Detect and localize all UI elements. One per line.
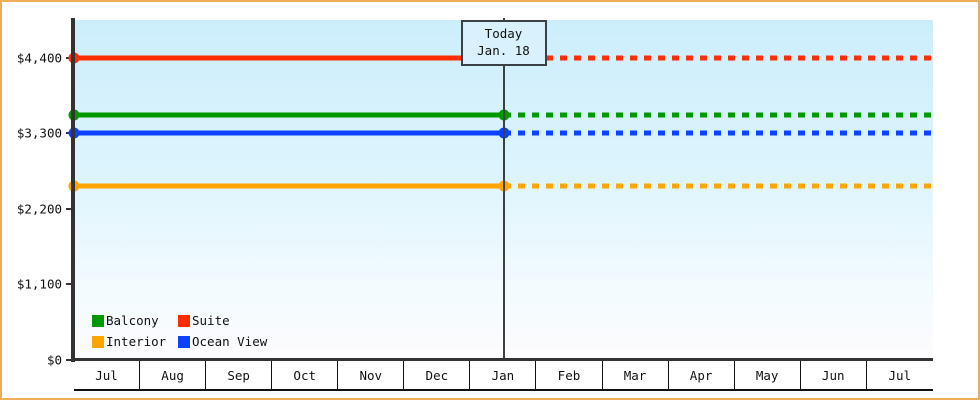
legend-label-balcony: Balcony bbox=[106, 313, 159, 328]
x-axis-month-row: JulAugSepOctNovDecJanFebMarAprMayJunJul bbox=[74, 361, 933, 391]
today-label: Today bbox=[473, 25, 535, 42]
x-axis-month-jan-6[interactable]: Jan bbox=[470, 361, 536, 389]
legend-swatch-suite bbox=[178, 315, 190, 327]
x-axis-month-jul-0[interactable]: Jul bbox=[74, 361, 140, 389]
legend-item-ocean-view[interactable]: Ocean View bbox=[178, 334, 267, 349]
legend-item-suite[interactable]: Suite bbox=[178, 313, 230, 328]
today-callout-box: Today Jan. 18 bbox=[461, 20, 547, 66]
legend-swatch-balcony bbox=[92, 315, 104, 327]
x-axis-month-jul-12[interactable]: Jul bbox=[867, 361, 933, 389]
legend-label-suite: Suite bbox=[192, 313, 230, 328]
x-axis-month-mar-8[interactable]: Mar bbox=[603, 361, 669, 389]
series-line-balcony bbox=[74, 112, 504, 117]
y-axis-line bbox=[71, 18, 75, 362]
series-forecast-interior bbox=[504, 183, 934, 188]
series-line-interior bbox=[74, 183, 504, 188]
series-forecast-suite bbox=[504, 55, 934, 60]
legend-row: Balcony Suite bbox=[92, 310, 267, 331]
today-date: Jan. 18 bbox=[473, 42, 535, 59]
x-axis-month-sep-2[interactable]: Sep bbox=[206, 361, 272, 389]
x-axis-month-feb-7[interactable]: Feb bbox=[536, 361, 602, 389]
series-forecast-ocean-view bbox=[504, 130, 934, 135]
y-axis-tick-label: $2,200 bbox=[17, 201, 62, 216]
y-axis-tick-label: $3,300 bbox=[17, 126, 62, 141]
legend-item-interior[interactable]: Interior bbox=[92, 334, 178, 349]
legend-row: Interior Ocean View bbox=[92, 331, 267, 352]
x-axis-month-may-10[interactable]: May bbox=[735, 361, 801, 389]
series-line-ocean-view bbox=[74, 130, 504, 135]
price-history-chart: $0$1,100$2,200$3,300$4,400 Today Jan. 18… bbox=[0, 0, 980, 400]
series-forecast-balcony bbox=[504, 112, 934, 117]
x-axis-month-aug-1[interactable]: Aug bbox=[140, 361, 206, 389]
y-axis-tick-label: $1,100 bbox=[17, 277, 62, 292]
legend-item-balcony[interactable]: Balcony bbox=[92, 313, 178, 328]
x-axis-month-jun-11[interactable]: Jun bbox=[801, 361, 867, 389]
chart-legend: Balcony Suite Interior Ocean View bbox=[92, 310, 267, 352]
x-axis-month-dec-5[interactable]: Dec bbox=[404, 361, 470, 389]
y-axis-tick-label: $0 bbox=[47, 353, 62, 368]
x-axis-month-apr-9[interactable]: Apr bbox=[669, 361, 735, 389]
x-axis-month-nov-4[interactable]: Nov bbox=[338, 361, 404, 389]
today-vertical-line bbox=[503, 18, 505, 360]
legend-swatch-ocean-view bbox=[178, 336, 190, 348]
legend-label-interior: Interior bbox=[106, 334, 166, 349]
x-axis-month-oct-3[interactable]: Oct bbox=[272, 361, 338, 389]
series-line-suite bbox=[74, 55, 504, 60]
legend-label-ocean-view: Ocean View bbox=[192, 334, 267, 349]
y-axis-tick-label: $4,400 bbox=[17, 50, 62, 65]
legend-swatch-interior bbox=[92, 336, 104, 348]
